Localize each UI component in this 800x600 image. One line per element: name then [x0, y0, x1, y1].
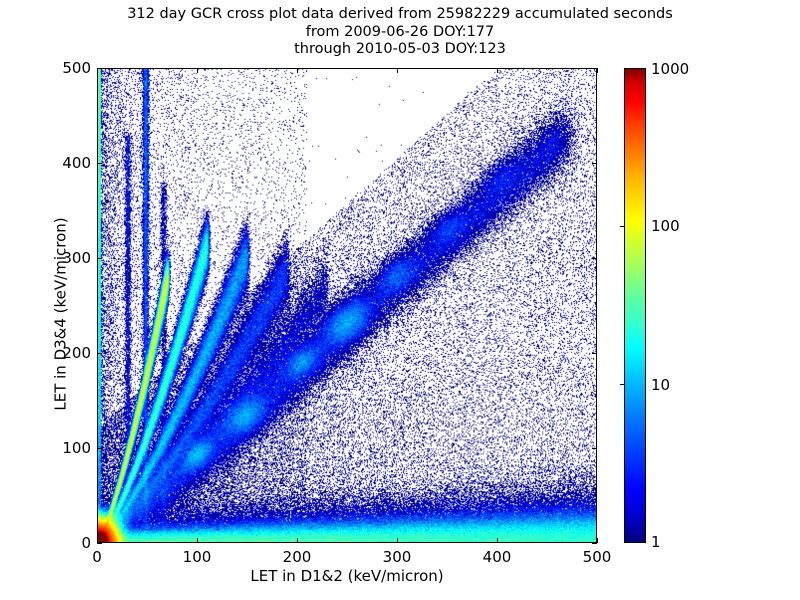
y-tick-right	[592, 543, 597, 544]
y-tick	[97, 163, 102, 164]
colorbar-tick-label: 1	[651, 533, 661, 551]
x-tick-label: 500	[583, 548, 612, 566]
plot-area	[97, 68, 597, 543]
figure: 312 day GCR cross plot data derived from…	[0, 0, 800, 600]
scatter-density-canvas	[98, 69, 596, 542]
x-tick	[497, 538, 498, 543]
y-tick	[97, 353, 102, 354]
x-tick-label: 300	[383, 548, 412, 566]
colorbar-tick-label: 1000	[651, 60, 689, 78]
x-tick-label: 0	[92, 548, 102, 566]
y-tick-right	[592, 353, 597, 354]
y-tick	[97, 258, 102, 259]
x-tick-top	[97, 68, 98, 73]
x-tick-top	[497, 68, 498, 73]
title-line-1: 312 day GCR cross plot data derived from…	[0, 6, 800, 24]
y-tick	[97, 543, 102, 544]
x-tick-label: 200	[283, 548, 312, 566]
x-tick-top	[397, 68, 398, 73]
colorbar-tick-label: 100	[651, 217, 680, 235]
y-tick-right	[592, 258, 597, 259]
x-tick-top	[197, 68, 198, 73]
y-tick-right	[592, 163, 597, 164]
title-line-3: through 2010-05-03 DOY:123	[0, 41, 800, 59]
title-line-2: from 2009-06-26 DOY:177	[0, 24, 800, 42]
y-tick	[97, 448, 102, 449]
y-tick	[97, 68, 102, 69]
x-tick-top	[297, 68, 298, 73]
y-tick-label: 0	[81, 534, 91, 552]
x-tick-label: 400	[483, 548, 512, 566]
y-tick-right	[592, 448, 597, 449]
y-tick-right	[592, 68, 597, 69]
x-tick	[297, 538, 298, 543]
x-tick	[397, 538, 398, 543]
x-tick	[197, 538, 198, 543]
x-tick-top	[597, 68, 598, 73]
x-axis-label: LET in D1&2 (keV/micron)	[97, 567, 597, 585]
chart-title: 312 day GCR cross plot data derived from…	[0, 6, 800, 59]
y-axis-label: LET in D3&4 (keV/micron)	[52, 77, 70, 552]
colorbar-gradient	[624, 68, 646, 543]
colorbar-tick-label: 10	[651, 376, 670, 394]
y-tick-label: 500	[62, 59, 91, 77]
x-tick-label: 100	[183, 548, 212, 566]
colorbar	[624, 68, 646, 543]
